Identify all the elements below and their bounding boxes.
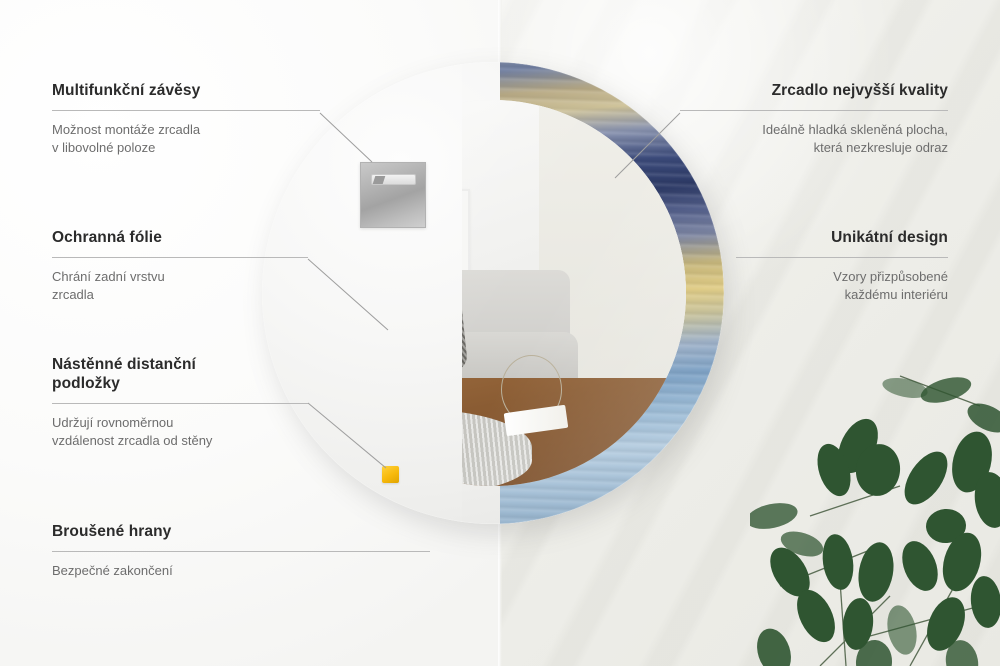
callout-title: Zrcadlo nejvyšší kvality [680,82,948,101]
callout-nastenne-distancni-podlozky: Nástěnné distančnípodložky Udržují rovno… [52,356,308,451]
wall-spacer-pad [382,466,399,483]
callout-description: Možnost montáže zrcadlav libovolné poloz… [52,121,320,158]
callout-unikatni-design: Unikátní design Vzory přizpůsobenékaždém… [736,229,948,305]
callout-title: Broušené hrany [52,523,430,542]
callout-description: Vzory přizpůsobenékaždému interiéru [736,268,948,305]
callout-title: Multifunkční závěsy [52,82,320,101]
callout-rule [52,403,308,404]
infographic-canvas: Multifunkční závěsy Možnost montáže zrca… [0,0,1000,666]
callout-description-line: Chrání zadní vrstvu [52,269,165,284]
callout-title: Ochranná fólie [52,229,308,248]
callout-description-line: zrcadla [52,287,94,302]
callout-description: Bezpečné zakončení [52,562,430,580]
callout-description-line: Udržují rovnoměrnou [52,415,173,430]
callout-ochranna-folie: Ochranná fólie Chrání zadní vrstvuzrcadl… [52,229,308,305]
callout-brousene-hrany: Broušené hrany Bezpečné zakončení [52,523,430,580]
callout-rule [52,551,430,552]
callout-description-line: vzdálenost zrcadla od stěny [52,433,212,448]
callout-description: Ideálně hladká skleněná plocha,která nez… [680,121,948,158]
callout-title: Unikátní design [736,229,948,248]
callout-description-line: Možnost montáže zrcadla [52,122,200,137]
callout-rule [52,110,320,111]
callout-title-line: Nástěnné distanční [52,356,196,373]
callout-title: Nástěnné distančnípodložky [52,356,308,394]
hanger-plate [360,162,426,228]
round-mirror [262,62,724,524]
callout-zrcadlo-nejvyssi-kvality: Zrcadlo nejvyšší kvality Ideálně hladká … [680,82,948,158]
callout-rule [680,110,948,111]
callout-title-line: podložky [52,375,120,392]
mirror-edge-highlight [262,62,724,524]
callout-description-line: která nezkresluje odraz [814,140,948,155]
callout-description-line: v libovolné poloze [52,140,155,155]
callout-description-line: Vzory přizpůsobené [833,269,948,284]
callout-description: Chrání zadní vrstvuzrcadla [52,268,308,305]
callout-rule [52,257,308,258]
callout-multifunkcni-zavesy: Multifunkční závěsy Možnost montáže zrca… [52,82,320,158]
callout-description: Udržují rovnoměrnouvzdálenost zrcadla od… [52,414,308,451]
hanger-keyhole-slot [371,174,416,185]
callout-description-line: každému interiéru [845,287,948,302]
callout-description-line: Ideálně hladká skleněná plocha, [762,122,948,137]
callout-rule [736,257,948,258]
